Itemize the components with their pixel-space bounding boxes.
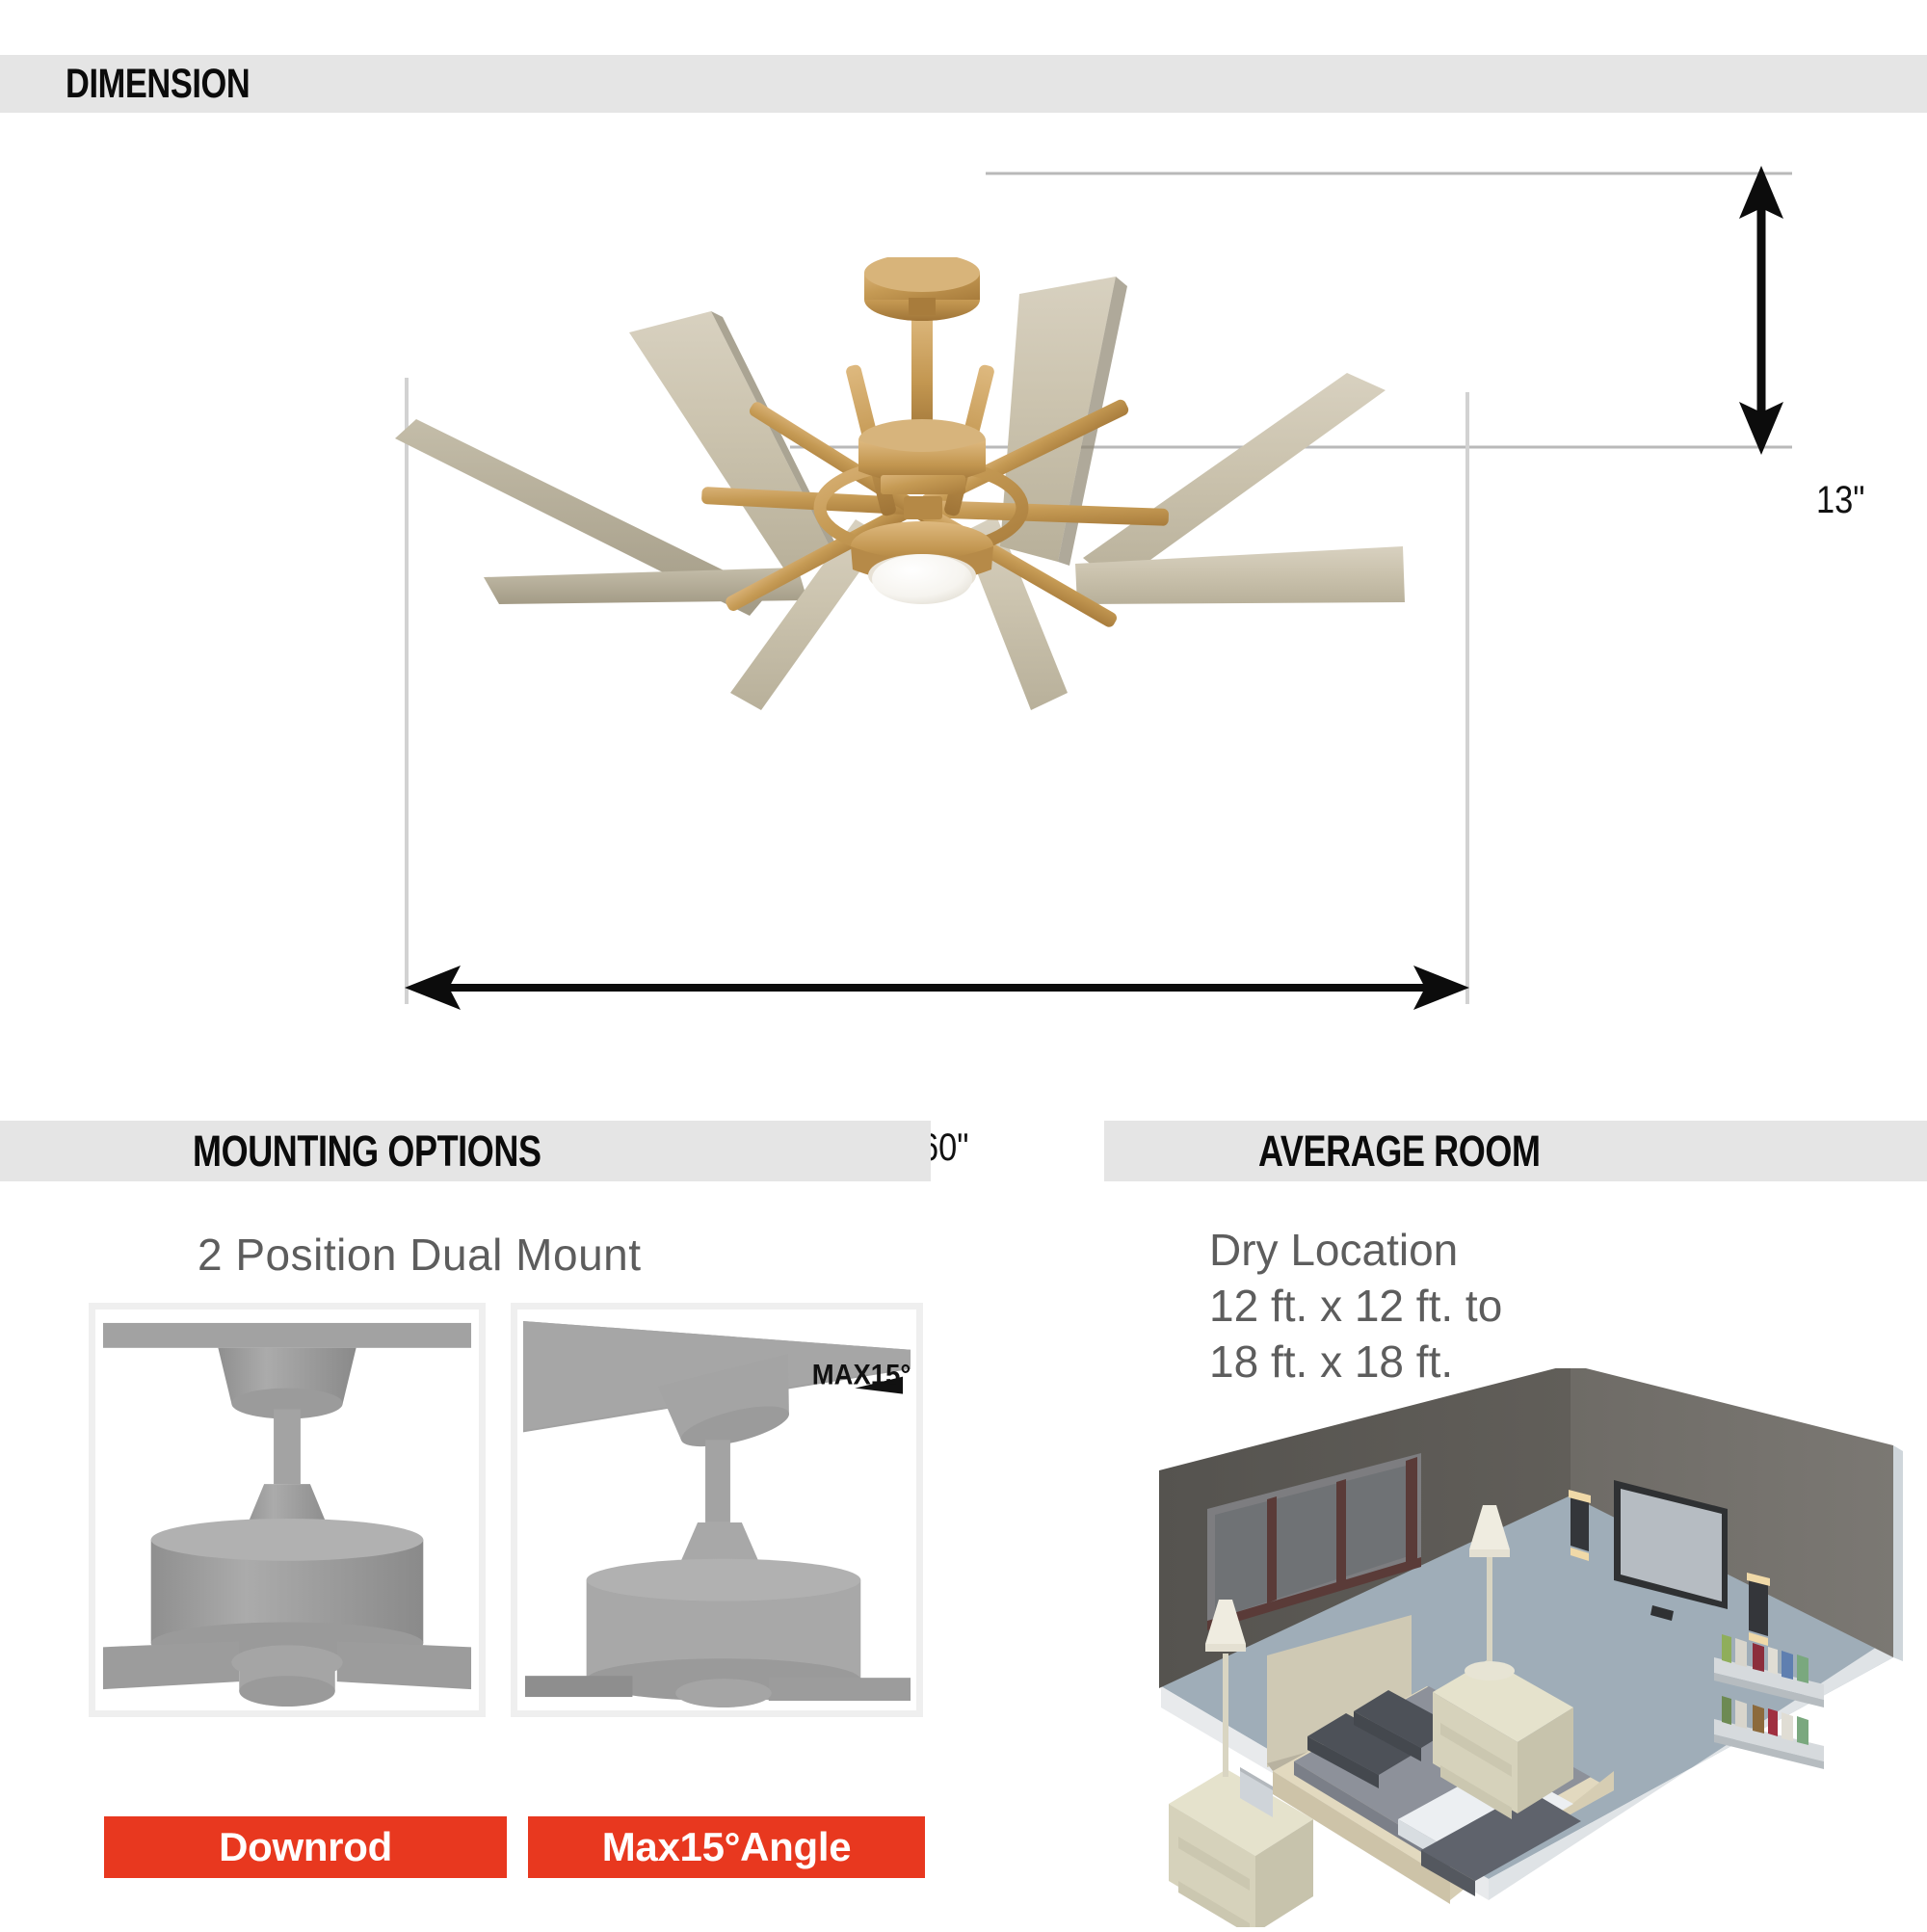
- room-spec-line-1: Dry Location: [1209, 1222, 1502, 1278]
- mounting-diagram-angle: MAX15°: [511, 1303, 923, 1717]
- svg-text:MAX15°: MAX15°: [812, 1360, 911, 1391]
- mounting-subtitle: 2 Position Dual Mount: [198, 1229, 642, 1281]
- section-header-room: AVERAGE ROOM: [1104, 1121, 1927, 1181]
- downrod-button[interactable]: Downrod: [104, 1816, 507, 1878]
- max-angle-button[interactable]: Max15°Angle: [528, 1816, 925, 1878]
- section-title-dimension: DIMENSION: [66, 61, 250, 108]
- dimension-figure: 13" 60": [0, 113, 1927, 1115]
- fan-downrod: [864, 257, 980, 440]
- mounting-diagram-downrod: [89, 1303, 486, 1717]
- ceiling-fan-illustration: [383, 257, 1501, 739]
- max-angle-button-label: Max15°Angle: [602, 1824, 852, 1870]
- fan-light-kit: [851, 521, 993, 604]
- downrod-button-label: Downrod: [219, 1824, 392, 1870]
- section-title-room: AVERAGE ROOM: [1258, 1126, 1541, 1177]
- section-header-mounting: MOUNTING OPTIONS: [0, 1121, 931, 1181]
- section-header-dimension: DIMENSION: [0, 55, 1927, 113]
- dimension-height-label: 13": [1816, 479, 1864, 522]
- max15-angle-annotation: MAX15°: [812, 1360, 911, 1394]
- bedroom-illustration: [1132, 1368, 1927, 1927]
- room-specs: Dry Location 12 ft. x 12 ft. to 18 ft. x…: [1209, 1222, 1502, 1389]
- room-spec-line-2: 12 ft. x 12 ft. to: [1209, 1278, 1502, 1334]
- section-title-mounting: MOUNTING OPTIONS: [193, 1126, 541, 1177]
